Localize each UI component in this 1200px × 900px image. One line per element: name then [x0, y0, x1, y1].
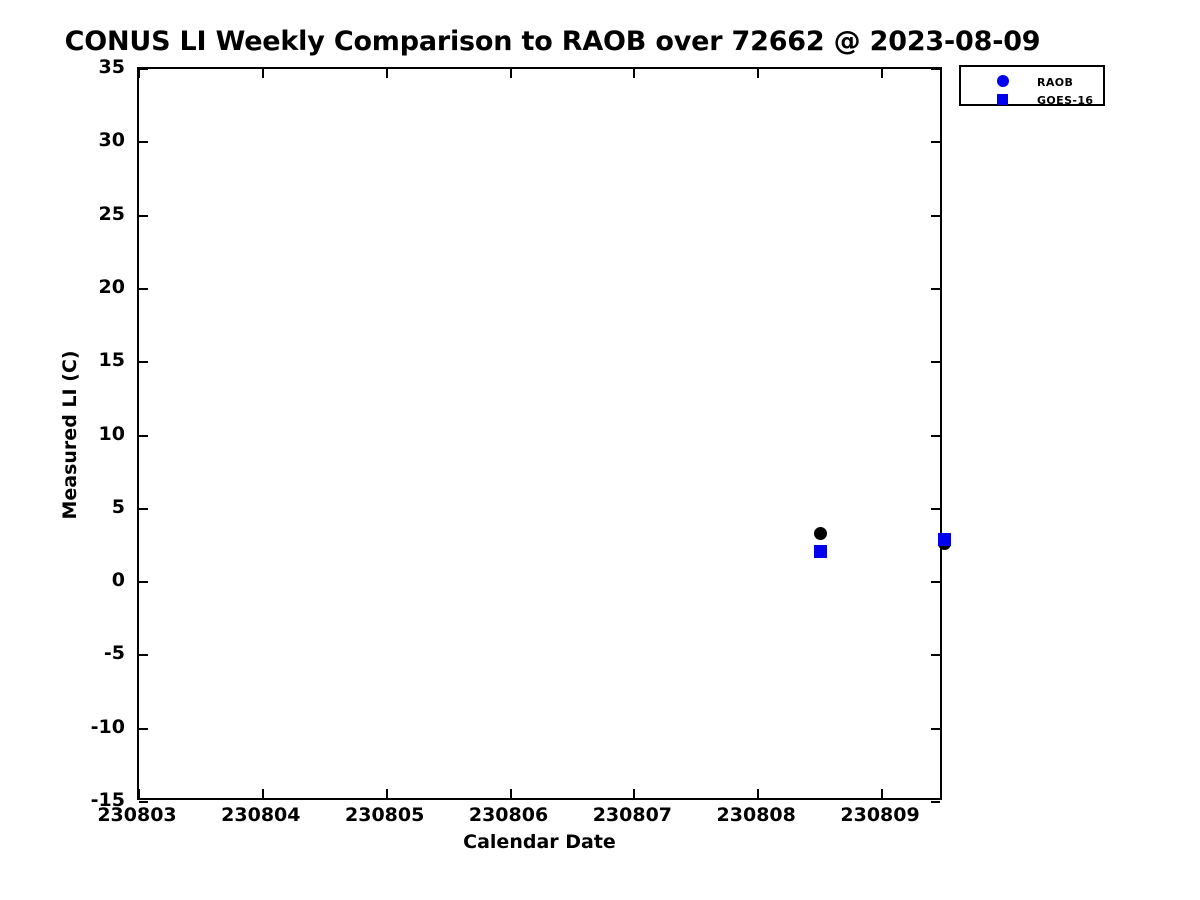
y-tick-mark [139, 435, 148, 437]
x-tick-mark [386, 789, 388, 798]
legend-square-icon [997, 94, 1008, 105]
y-tick-mark [931, 215, 940, 217]
y-tick-label: -10 [15, 718, 125, 737]
y-tick-mark [139, 215, 148, 217]
y-tick-mark [931, 435, 940, 437]
y-tick-mark [931, 728, 940, 730]
chart-title: CONUS LI Weekly Comparison to RAOB over … [0, 26, 1105, 57]
y-tick-mark [931, 288, 940, 290]
y-tick-mark [139, 288, 148, 290]
y-tick-label: 10 [15, 425, 125, 444]
y-tick-mark [931, 361, 940, 363]
y-tick-label: 20 [15, 278, 125, 297]
legend-entry-goes-16[interactable]: GOES-16 [961, 91, 1103, 109]
y-tick-label: 5 [15, 498, 125, 517]
data-point-goes-16 [814, 545, 827, 558]
y-tick-mark [931, 801, 940, 803]
legend-circle-icon [997, 75, 1009, 87]
x-tick-mark [510, 789, 512, 798]
x-tick-mark [881, 789, 883, 798]
data-point-raob [814, 527, 827, 540]
x-tick-mark [510, 69, 512, 78]
y-tick-mark [139, 801, 148, 803]
x-tick-label: 230809 [800, 806, 960, 825]
x-tick-mark [881, 69, 883, 78]
y-tick-mark [139, 141, 148, 143]
chart-figure: CONUS LI Weekly Comparison to RAOB over … [0, 0, 1200, 900]
y-tick-mark [931, 141, 940, 143]
plot-area [137, 67, 942, 800]
x-tick-mark [262, 69, 264, 78]
y-tick-label: 30 [15, 131, 125, 150]
y-tick-mark [931, 654, 940, 656]
x-axis-title: Calendar Date [137, 831, 942, 853]
y-tick-label: 25 [15, 205, 125, 224]
x-tick-mark [633, 69, 635, 78]
y-tick-mark [139, 654, 148, 656]
x-tick-mark [138, 69, 140, 78]
x-tick-mark [633, 789, 635, 798]
y-tick-mark [139, 581, 148, 583]
x-tick-mark [138, 789, 140, 798]
y-tick-mark [139, 508, 148, 510]
x-tick-mark [757, 69, 759, 78]
x-tick-mark [757, 789, 759, 798]
y-tick-label: -5 [15, 644, 125, 663]
y-tick-mark [139, 68, 148, 70]
chart-legend[interactable]: RAOBGOES-16 [959, 65, 1105, 106]
data-point-goes-16 [938, 533, 951, 546]
y-tick-label: 0 [15, 571, 125, 590]
x-tick-mark [386, 69, 388, 78]
legend-label: GOES-16 [1037, 94, 1094, 107]
y-tick-label: 35 [15, 58, 125, 77]
y-tick-mark [931, 68, 940, 70]
y-tick-mark [931, 508, 940, 510]
x-tick-mark [262, 789, 264, 798]
legend-entry-raob[interactable]: RAOB [961, 73, 1103, 91]
y-tick-mark [139, 361, 148, 363]
y-tick-mark [139, 728, 148, 730]
legend-label: RAOB [1037, 76, 1073, 89]
y-tick-mark [931, 581, 940, 583]
y-tick-label: 15 [15, 351, 125, 370]
